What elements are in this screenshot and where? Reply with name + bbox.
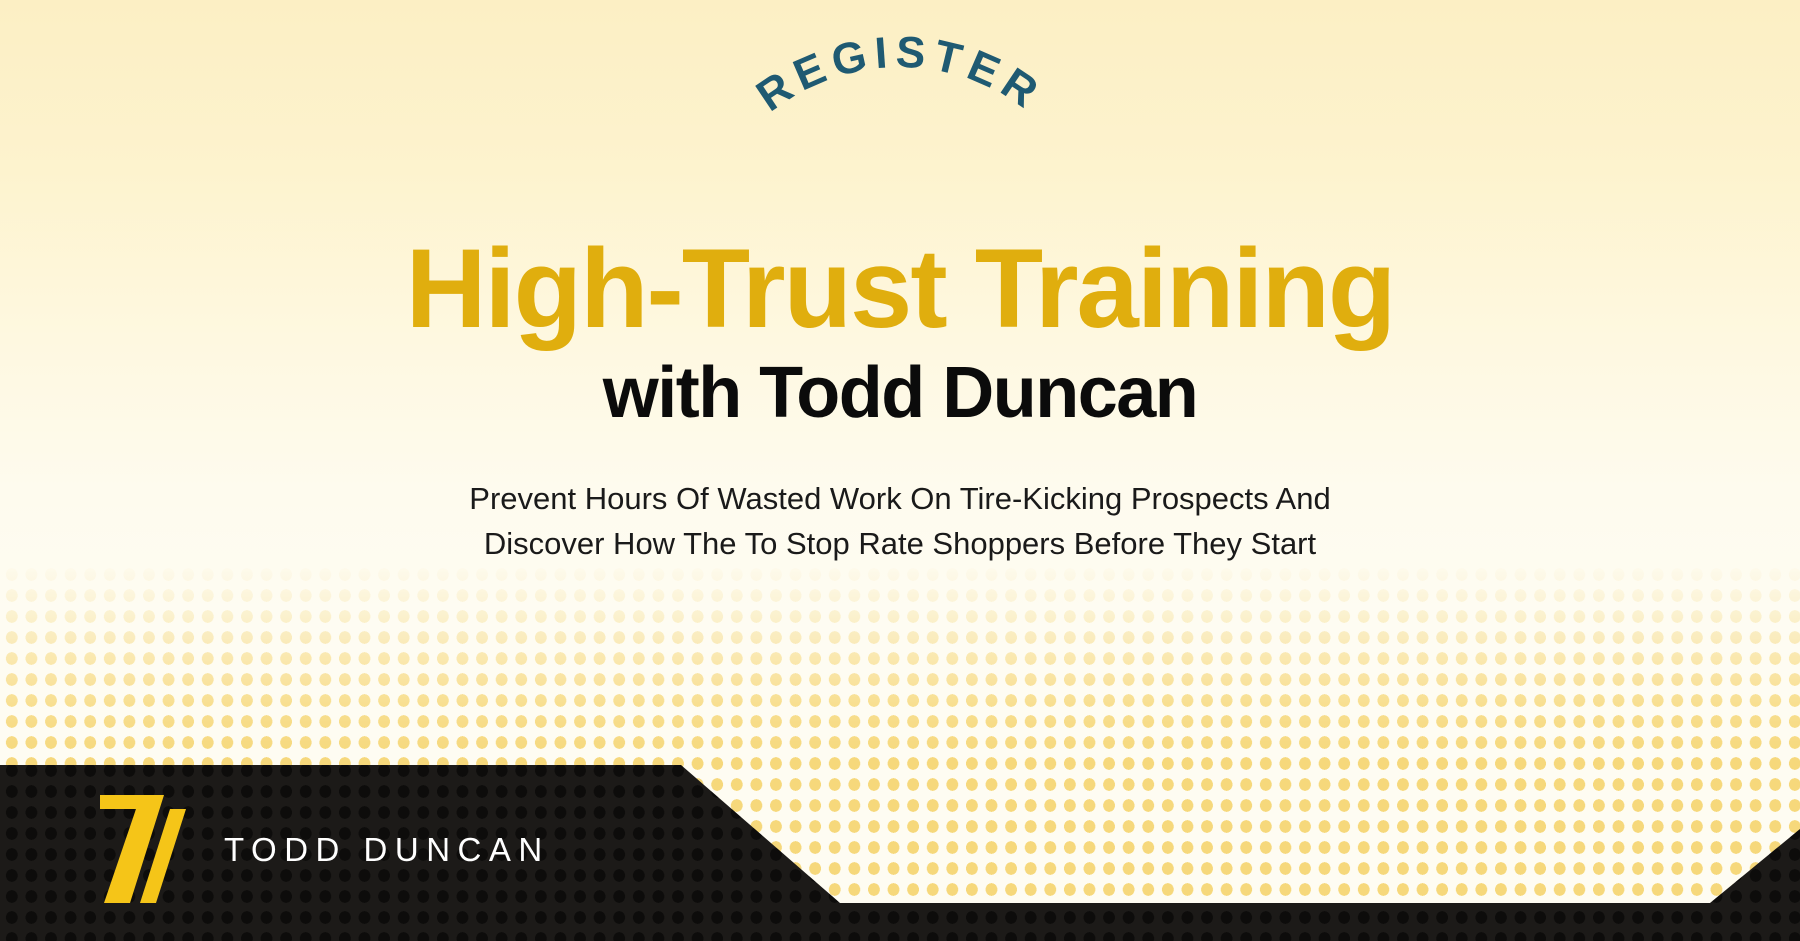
register-eyebrow: REGISTER (690, 96, 1110, 216)
page-title: High-Trust Training (0, 232, 1800, 346)
register-arc-text: REGISTER (748, 27, 1052, 121)
page-subtitle: with Todd Duncan (0, 356, 1800, 432)
description-line-2: Discover How The To Stop Rate Shoppers B… (0, 521, 1800, 566)
register-arc-textpath: REGISTER (748, 27, 1052, 121)
headline-block: High-Trust Training with Todd Duncan Pre… (0, 232, 1800, 566)
promo-banner: REGISTER High-Trust Training with Todd D… (0, 0, 1800, 941)
register-arc-svg: REGISTER (690, 96, 1110, 216)
description-text: Prevent Hours Of Wasted Work On Tire-Kic… (0, 476, 1800, 567)
logo-wordmark: TODD DUNCAN (224, 833, 550, 866)
brand-logo: TODD DUNCAN (86, 795, 550, 903)
seven-mark-icon (86, 795, 198, 903)
description-line-1: Prevent Hours Of Wasted Work On Tire-Kic… (0, 476, 1800, 521)
